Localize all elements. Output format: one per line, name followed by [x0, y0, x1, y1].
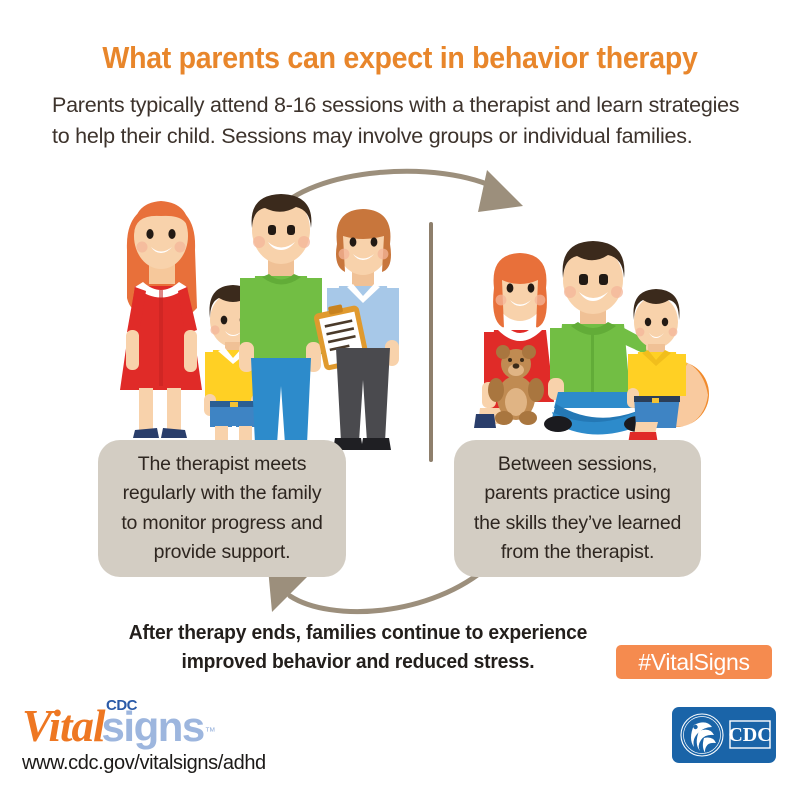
- callout-left: The therapist meets regularly with the f…: [98, 440, 346, 577]
- figure-therapist-with-clipboard: [312, 209, 399, 450]
- closing-line-2: improved behavior and reduced stress.: [182, 650, 535, 673]
- hashtag-badge[interactable]: #VitalSigns: [616, 645, 772, 679]
- cdc-vital-signs-logo: CDC Vitalsigns™: [22, 700, 216, 746]
- family-sitting-together-illustration: [458, 232, 728, 462]
- website-url[interactable]: www.cdc.gov/vitalsigns/adhd: [22, 752, 266, 775]
- hhs-cdc-seal: CDC: [672, 707, 776, 763]
- seal-cdc-text: CDC: [728, 724, 771, 746]
- cdc-logo-box: CDC: [728, 721, 771, 748]
- figure-mother-red-dress: [120, 201, 202, 438]
- logo-vital-text: Vital: [22, 701, 105, 751]
- logo-trademark-symbol: ™: [205, 726, 216, 738]
- callout-right: Between sessions, parents practice using…: [454, 440, 701, 577]
- closing-statement: After therapy ends, families continue to…: [95, 618, 621, 676]
- hhs-bird-icon: [681, 714, 723, 756]
- page-subtitle: Parents typically attend 8-16 sessions w…: [52, 90, 752, 152]
- subtitle-line-2: to help their child. Sessions may involv…: [52, 124, 692, 148]
- page-title: What parents can expect in behavior ther…: [32, 40, 768, 76]
- closing-line-1: After therapy ends, families continue to…: [129, 621, 587, 644]
- illustration-scene: [0, 160, 800, 460]
- subtitle-line-1: Parents typically attend 8-16 sessions w…: [52, 93, 739, 117]
- infographic-canvas: What parents can expect in behavior ther…: [0, 0, 800, 791]
- logo-cdc-text: CDC: [106, 697, 137, 714]
